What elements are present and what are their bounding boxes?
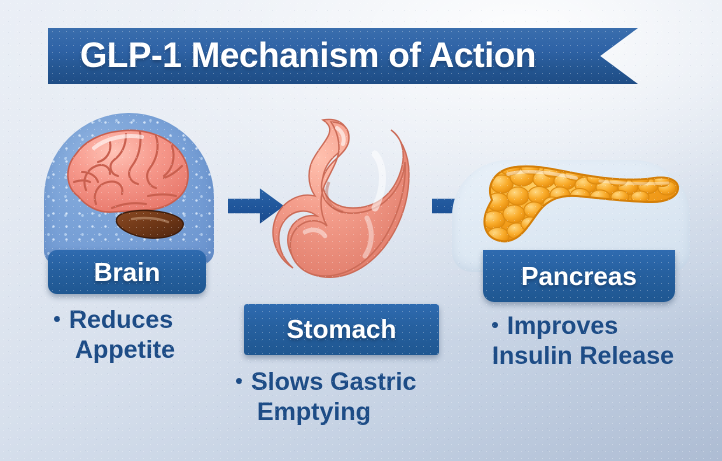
brain-illustration — [52, 118, 204, 258]
organ-label-pancreas-text: Pancreas — [521, 261, 637, 292]
bullet-dot-icon — [54, 316, 60, 322]
pancreas-illustration — [472, 148, 686, 264]
page-title: GLP-1 Mechanism of Action — [48, 36, 536, 76]
brain-bullet-line-2: Appetite — [54, 336, 175, 366]
organ-label-brain-text: Brain — [94, 257, 160, 288]
stomach-bullet-line-1: Slows Gastric — [236, 368, 416, 398]
title-banner: GLP-1 Mechanism of Action — [48, 28, 638, 84]
pancreas-bullets: Improves Insulin Release — [492, 312, 674, 371]
organ-label-brain: Brain — [48, 250, 206, 294]
pancreas-bullet-line-2: Insulin Release — [492, 342, 674, 372]
brain-bullet-line-1: Reduces — [54, 306, 175, 336]
bullet-dot-icon — [236, 378, 242, 384]
bullet-dot-icon — [492, 322, 498, 328]
glp1-mechanism-infographic: GLP-1 Mechanism of Action — [0, 0, 722, 461]
pancreas-bullet-line-1: Improves — [492, 312, 674, 342]
stomach-bullet-line-2: Emptying — [236, 398, 416, 428]
stomach-bullets: Slows Gastric Emptying — [236, 368, 416, 427]
stomach-illustration — [249, 112, 437, 312]
organ-label-stomach-text: Stomach — [287, 314, 397, 345]
organ-label-pancreas: Pancreas — [483, 250, 675, 302]
organ-label-stomach: Stomach — [244, 304, 439, 355]
brain-bullets: Reduces Appetite — [54, 306, 175, 365]
